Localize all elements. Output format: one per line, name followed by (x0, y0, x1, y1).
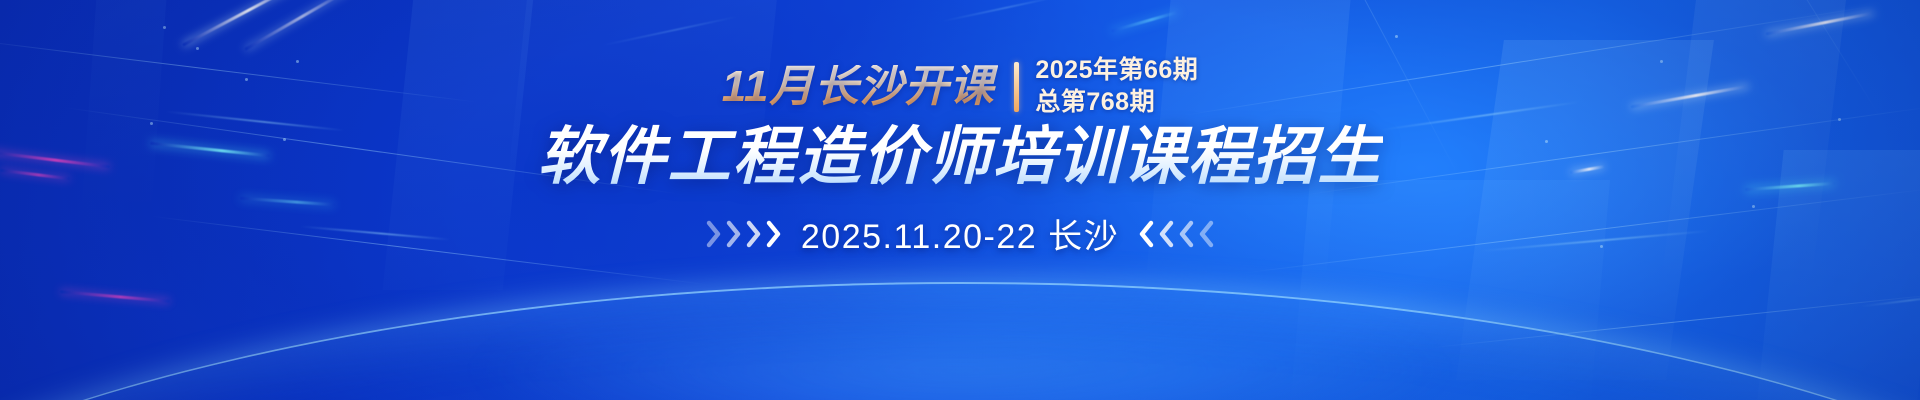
issue-line-total: 总第768期 (1035, 88, 1198, 118)
issue-line-year: 2025年第66期 (1035, 56, 1198, 86)
chevron-right-icon (766, 220, 783, 248)
chevron-right-icon (746, 220, 763, 248)
event-date-location: 2025.11.20-22 长沙 (801, 209, 1119, 258)
banner-content: 11月长沙开课 2025年第66期 总第768期 软件工程造价师培训课程招生 2… (0, 0, 1920, 400)
chevron-left-icon (1157, 220, 1174, 248)
vertical-bar-icon (1014, 62, 1019, 112)
chevron-right-icon-group (706, 220, 783, 248)
eyebrow-row: 11月长沙开课 2025年第66期 总第768期 (722, 56, 1199, 117)
chevron-left-icon (1197, 220, 1214, 248)
kicker-text: 11月长沙开课 (722, 65, 999, 109)
page-title: 软件工程造价师培训课程招生 (538, 121, 1383, 193)
issue-block: 2025年第66期 总第768期 (1035, 56, 1198, 117)
course-promo-banner: 11月长沙开课 2025年第66期 总第768期 软件工程造价师培训课程招生 2… (0, 0, 1920, 400)
chevron-left-icon (1137, 220, 1154, 248)
chevron-left-icon-group (1137, 220, 1214, 248)
chevron-left-icon (1177, 220, 1194, 248)
chevron-right-icon (726, 220, 743, 248)
chevron-right-icon (706, 220, 723, 248)
date-row: 2025.11.20-22 长沙 (706, 209, 1214, 258)
